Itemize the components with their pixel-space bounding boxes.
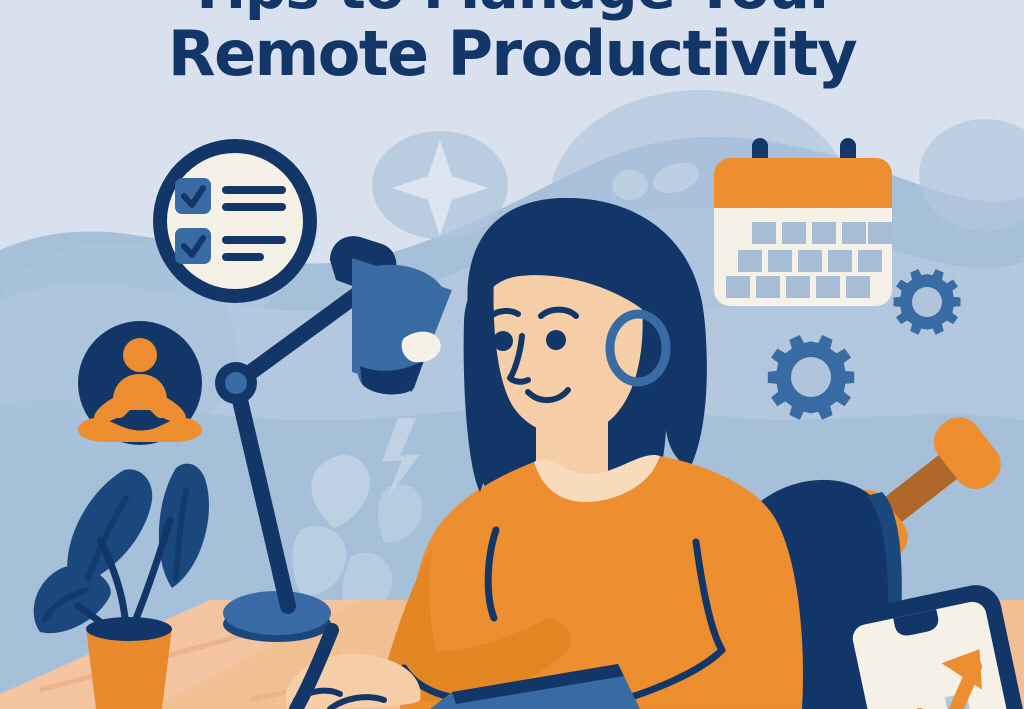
- checklist-line-1a: [222, 186, 286, 194]
- calendar-header: [714, 158, 892, 208]
- meditation-badge-icon: [78, 321, 202, 445]
- checklist-line-2a: [222, 236, 286, 244]
- illustration-svg: [0, 0, 1024, 709]
- lamp-joint-inner: [225, 372, 247, 394]
- eye-left: [493, 331, 513, 351]
- checklist-line-2b: [222, 253, 264, 261]
- checkbox-1: [175, 178, 211, 214]
- eye-right: [546, 330, 566, 350]
- lotus-head: [123, 338, 157, 372]
- checklist-badge-icon: [153, 139, 317, 303]
- poster-canvas: Tips to Manage Your Remote Productivity: [0, 0, 1024, 709]
- checklist-line-1b: [222, 203, 286, 211]
- plant-pot-soil: [86, 617, 172, 641]
- checkbox-2: [175, 228, 211, 264]
- lamp-base: [223, 591, 331, 635]
- decor-blob-6: [612, 170, 648, 200]
- calendar-icon: [714, 138, 892, 306]
